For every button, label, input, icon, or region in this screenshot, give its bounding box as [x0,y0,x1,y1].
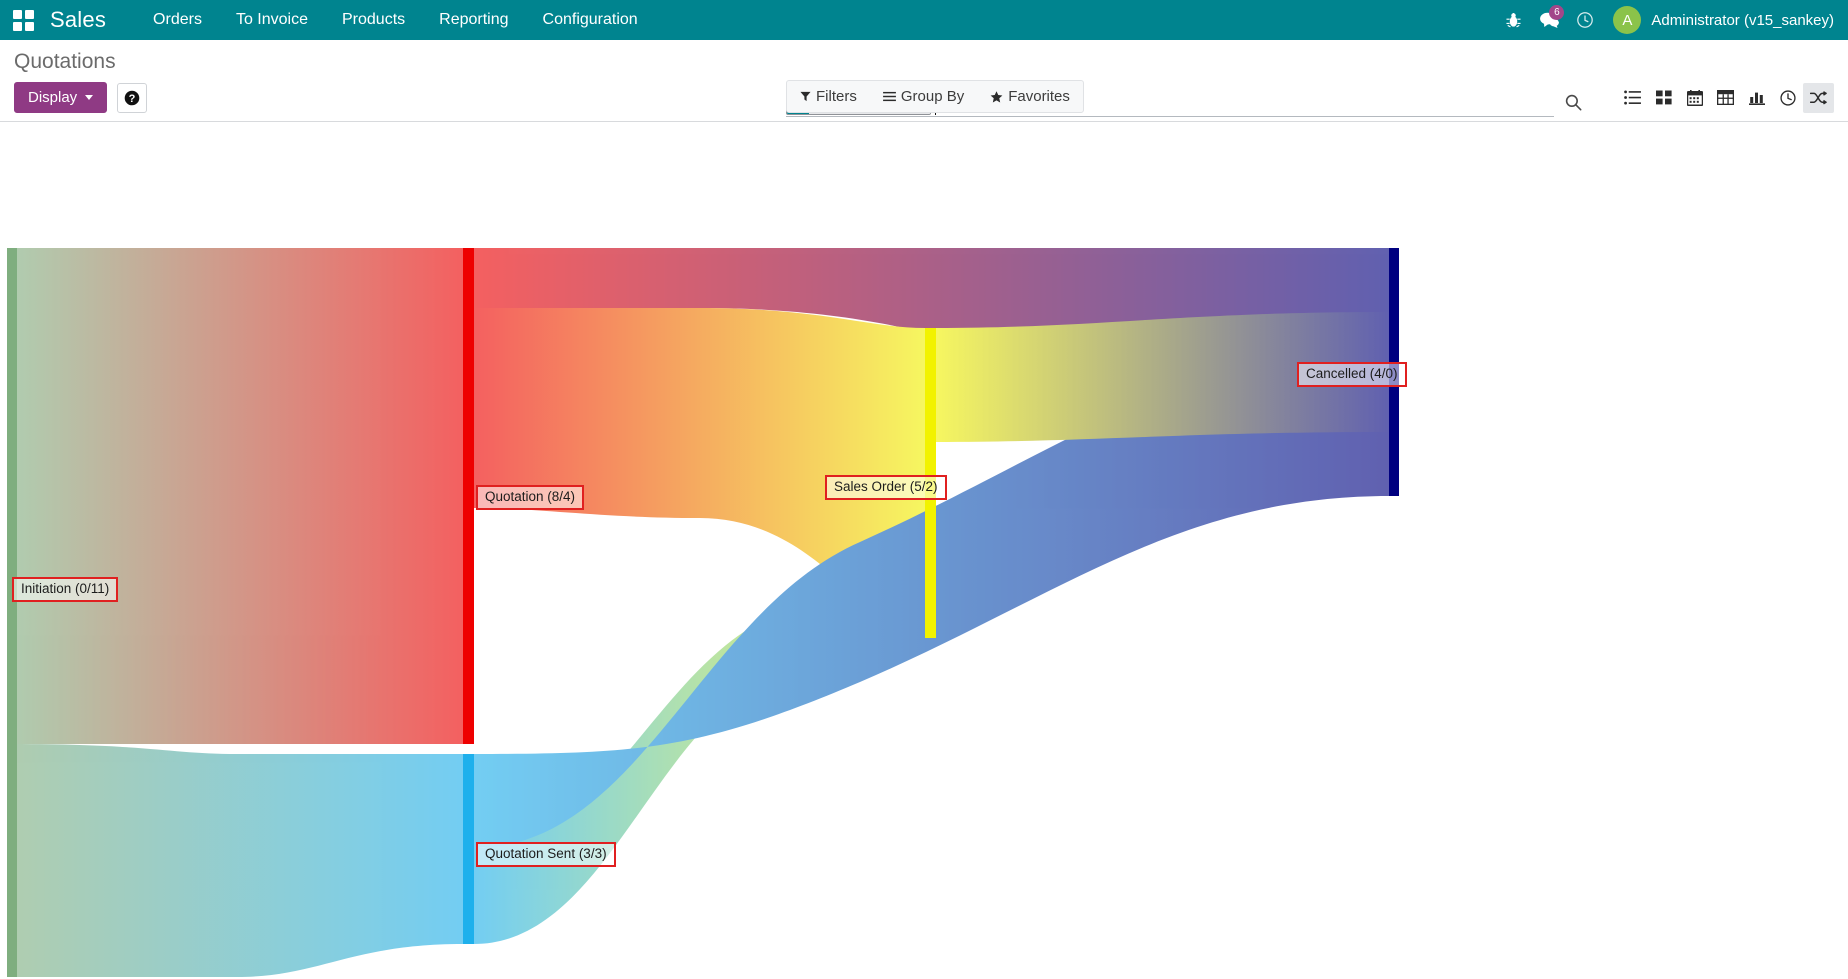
view-switcher [1617,83,1834,113]
avatar: A [1613,6,1641,34]
view-button-list[interactable] [1617,83,1648,113]
view-button-sankey[interactable] [1803,83,1834,113]
node-label-quotation[interactable]: Quotation (8/4) [476,485,584,510]
table-icon [1717,90,1734,105]
menu-orders[interactable]: Orders [136,0,219,40]
node-label-initiation[interactable]: Initiation (0/11) [12,577,118,602]
shuffle-icon [1810,91,1827,105]
node-initiation[interactable] [7,248,17,977]
control-panel-top-row: Quotations [0,40,1848,78]
svg-text:?: ? [129,93,136,105]
user-name-label: Administrator (v15_sankey) [1641,12,1834,29]
link-initiation-quotation-sent[interactable] [12,744,463,977]
filters-dropdown[interactable]: Filters [787,81,870,112]
menu-products[interactable]: Products [325,0,422,40]
filter-funnel-icon [800,91,811,102]
breadcrumb[interactable]: Quotations [14,48,116,74]
view-button-kanban[interactable] [1648,83,1679,113]
node-label-sales-order[interactable]: Sales Order (5/2) [825,475,947,500]
view-button-calendar[interactable] [1679,83,1710,113]
display-button[interactable]: Display [14,82,107,113]
top-navbar: Sales Orders To Invoice Products Reporti… [0,0,1848,40]
bug-icon[interactable] [1495,0,1531,40]
menu-configuration[interactable]: Configuration [526,0,655,40]
clock-icon[interactable] [1567,0,1603,40]
display-button-label: Display [28,89,77,106]
view-button-pivot[interactable] [1710,83,1741,113]
hamburger-icon [883,91,896,102]
sankey-svg [0,122,1848,977]
question-mark-icon: ? [124,90,140,106]
apps-menu-button[interactable] [0,0,46,40]
kanban-icon [1656,90,1672,105]
groupby-dropdown[interactable]: Group By [870,81,977,112]
node-label-cancelled[interactable]: Cancelled (4/0) [1297,362,1407,387]
bar-chart-icon [1749,90,1765,105]
messages-icon[interactable]: 6 [1531,0,1567,40]
messages-badge: 6 [1549,5,1564,20]
link-initiation-quotation[interactable] [12,248,463,744]
list-icon [1624,90,1641,105]
menu-reporting[interactable]: Reporting [422,0,525,40]
control-panel: Quotations My Quotations ✖ Display [0,40,1848,122]
app-brand-sales[interactable]: Sales [46,0,136,40]
clock-icon [1780,90,1796,106]
node-quotation[interactable] [463,248,474,744]
node-quotation-sent[interactable] [463,754,474,944]
apps-grid-icon [13,10,34,31]
chevron-down-icon [85,95,93,100]
control-panel-bottom-row: Display ? Filters Group [0,78,1848,121]
node-label-quotation-sent[interactable]: Quotation Sent (3/3) [476,842,616,867]
search-dropdown-bar: Filters Group By Favorites [786,80,1084,113]
sankey-chart: Initiation (0/11) Quotation (8/4) Quotat… [0,122,1848,977]
menu-to-invoice[interactable]: To Invoice [219,0,325,40]
groupby-label: Group By [901,88,964,105]
star-icon [990,91,1003,103]
navbar-right-cluster: 6 A Administrator (v15_sankey) [1495,0,1848,40]
help-button[interactable]: ? [117,83,147,113]
filters-label: Filters [816,88,857,105]
favorites-dropdown[interactable]: Favorites [977,81,1083,112]
calendar-icon [1687,90,1703,106]
favorites-label: Favorites [1008,88,1070,105]
view-button-graph[interactable] [1741,83,1772,113]
view-button-activity[interactable] [1772,83,1803,113]
user-menu[interactable]: A Administrator (v15_sankey) [1603,6,1834,34]
sankey-links [12,248,1389,977]
